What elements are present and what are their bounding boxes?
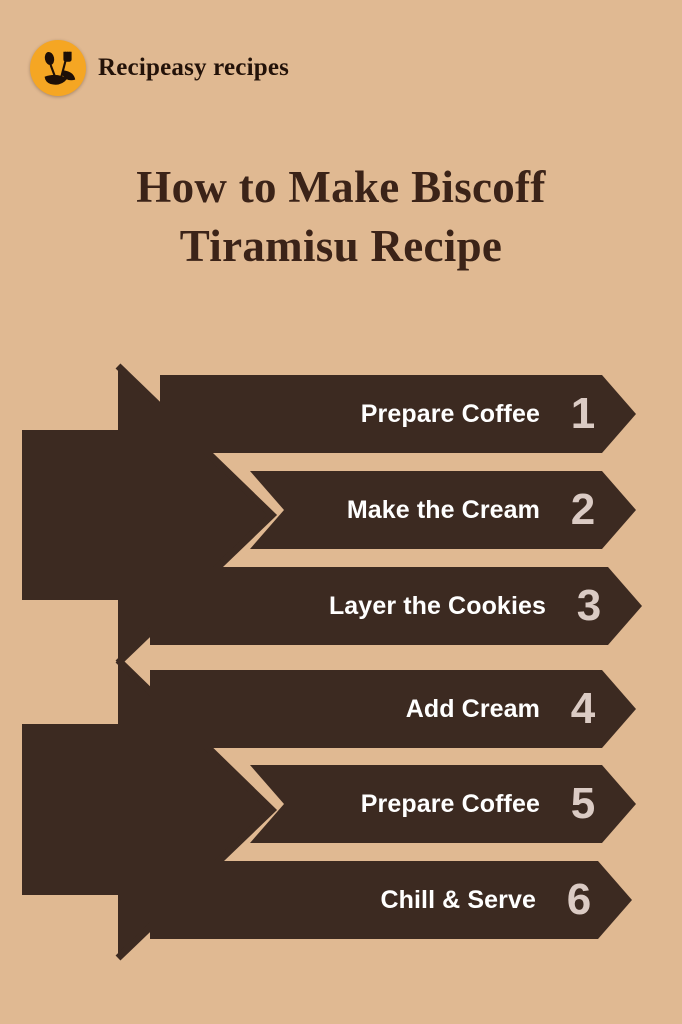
step-number-5: 5 (566, 782, 600, 826)
step-number-4: 4 (566, 687, 600, 731)
step-number-6: 6 (562, 878, 596, 922)
step-row-6[interactable]: Chill & Serve 6 (150, 861, 608, 939)
step-number-1: 1 (566, 392, 600, 436)
step-label-4: Add Cream (406, 695, 540, 724)
step-label-6: Chill & Serve (380, 886, 536, 915)
step-row-4[interactable]: Add Cream 4 (150, 670, 612, 748)
step-label-1: Prepare Coffee (361, 400, 540, 429)
step-number-2: 2 (566, 488, 600, 532)
process-steps-list: Prepare Coffee 1 Make the Cream 2 Layer … (0, 0, 682, 1024)
step-row-3[interactable]: Layer the Cookies 3 (150, 567, 618, 645)
step-number-3: 3 (572, 584, 606, 628)
step-label-2: Make the Cream (347, 496, 540, 525)
step-label-5: Prepare Coffee (361, 790, 540, 819)
step-row-1[interactable]: Prepare Coffee 1 (160, 375, 612, 453)
step-row-5[interactable]: Prepare Coffee 5 (250, 765, 612, 843)
step-row-2[interactable]: Make the Cream 2 (250, 471, 612, 549)
step-label-3: Layer the Cookies (329, 592, 546, 621)
